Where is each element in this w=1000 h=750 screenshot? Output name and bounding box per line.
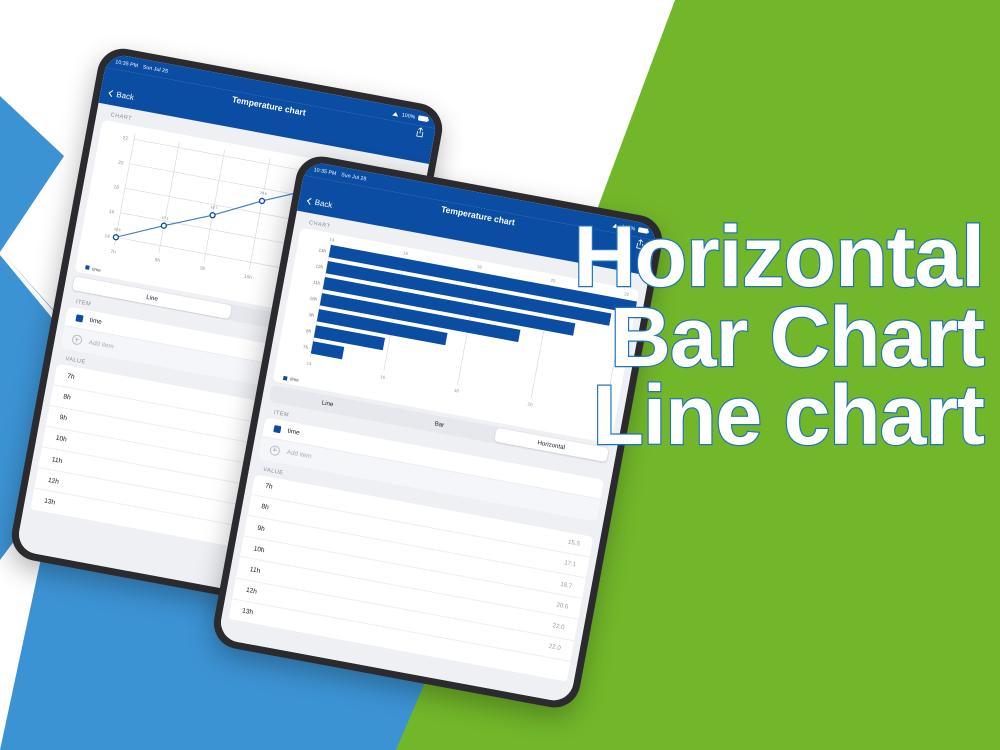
value-row-label: 10h <box>253 545 265 554</box>
svg-text:13h: 13h <box>318 247 327 253</box>
svg-text:14: 14 <box>306 360 312 366</box>
back-button[interactable]: Back <box>307 197 333 210</box>
svg-text:16: 16 <box>403 250 409 256</box>
svg-text:18.7: 18.7 <box>210 205 217 210</box>
value-row-label: 9h <box>59 414 67 422</box>
svg-text:16: 16 <box>108 209 115 216</box>
svg-text:22: 22 <box>601 415 607 421</box>
battery-icon <box>418 115 429 122</box>
svg-text:18: 18 <box>476 264 482 270</box>
wifi-icon <box>613 222 620 228</box>
svg-text:10h: 10h <box>243 274 252 281</box>
battery-percent: 100% <box>401 112 416 120</box>
back-label: Back <box>314 198 333 210</box>
svg-text:7h: 7h <box>110 249 117 256</box>
svg-text:22: 22 <box>624 291 630 297</box>
back-label: Back <box>116 90 135 102</box>
plus-circle-icon <box>71 334 83 346</box>
add-item-label: Add item <box>88 339 114 350</box>
value-row-label: 13h <box>241 608 253 617</box>
item-label: time <box>287 427 300 436</box>
svg-text:15.5: 15.5 <box>114 227 121 232</box>
svg-text:18: 18 <box>454 388 460 394</box>
svg-text:20: 20 <box>527 401 533 407</box>
status-date: Sun Jul 25 <box>341 172 367 183</box>
value-row-value: 20.6 <box>556 601 569 610</box>
svg-text:20.6: 20.6 <box>260 191 267 196</box>
value-row-label: 8h <box>261 504 269 512</box>
svg-text:10h: 10h <box>309 296 318 302</box>
chevron-left-icon <box>307 198 314 205</box>
plus-circle-icon <box>269 444 281 456</box>
status-date: Sun Jul 25 <box>142 64 168 75</box>
value-row-label: 7h <box>67 373 75 381</box>
add-item-label: Add item <box>286 449 312 460</box>
svg-text:9h: 9h <box>309 312 315 318</box>
svg-text:14: 14 <box>329 237 335 243</box>
value-row-label: 12h <box>245 587 257 596</box>
back-button[interactable]: Back <box>109 89 135 102</box>
status-time: 10:35 PM <box>115 59 139 69</box>
legend-swatch <box>85 265 90 270</box>
battery-icon <box>638 227 649 234</box>
svg-text:16: 16 <box>380 374 386 380</box>
value-row-label: 8h <box>63 393 71 401</box>
value-row-value: 22.0 <box>552 622 565 631</box>
legend-label: time <box>290 376 299 382</box>
legend-label: time <box>92 266 101 272</box>
value-row-label: 10h <box>55 435 67 444</box>
color-swatch-icon <box>75 315 83 323</box>
value-row-value: 15.5 <box>567 539 580 548</box>
svg-text:9h: 9h <box>199 265 206 272</box>
value-row-label: 12h <box>47 477 59 486</box>
item-label: time <box>89 317 102 326</box>
value-row-label: 7h <box>265 483 273 491</box>
value-row-label: 11h <box>51 456 63 465</box>
svg-text:20: 20 <box>550 278 556 284</box>
svg-text:8h: 8h <box>154 257 161 264</box>
value-row-label: 9h <box>257 524 265 532</box>
svg-text:14: 14 <box>104 233 111 240</box>
value-row-label: 13h <box>43 498 55 507</box>
svg-text:18: 18 <box>113 184 120 191</box>
battery-percent: 100% <box>621 224 636 232</box>
svg-text:7h: 7h <box>303 344 309 350</box>
value-row-label: 11h <box>249 566 261 575</box>
svg-text:11h: 11h <box>313 280 321 286</box>
svg-text:12h: 12h <box>315 263 324 269</box>
status-time: 10:35 PM <box>313 167 337 177</box>
svg-text:20: 20 <box>118 160 125 167</box>
value-row-value: 22.0 <box>548 643 561 652</box>
svg-text:8h: 8h <box>306 328 312 334</box>
legend-swatch <box>283 375 288 380</box>
chevron-left-icon <box>109 90 116 97</box>
wifi-icon <box>393 111 400 117</box>
value-row-value: 17.1 <box>564 560 577 569</box>
svg-text:17.1: 17.1 <box>162 216 169 221</box>
color-swatch-icon <box>273 425 281 433</box>
content-bar: CHART 14 16 18 20 22 <box>218 211 649 704</box>
value-row-value: 18.7 <box>560 580 573 589</box>
svg-text:22: 22 <box>122 135 129 142</box>
